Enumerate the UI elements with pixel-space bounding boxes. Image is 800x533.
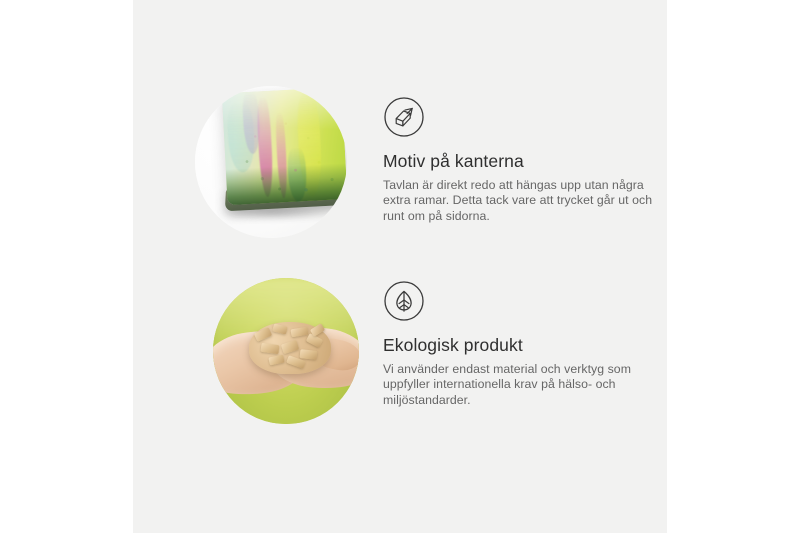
canvas-print-photo <box>195 86 347 238</box>
feature-title: Ekologisk produkt <box>383 335 663 356</box>
wood-chip <box>290 327 308 338</box>
feature-text-block-2: Ekologisk produkt Vi använder endast mat… <box>383 280 663 408</box>
wood-chip <box>260 343 279 354</box>
feature-description: Vi använder endast material och verktyg … <box>383 362 663 408</box>
artwork-speckle-texture <box>222 87 347 205</box>
feature-text-block-1: Motiv på kanterna Tavlan är direkt redo … <box>383 96 653 224</box>
wood-chip <box>281 340 299 354</box>
wood-chip-pile <box>249 322 331 374</box>
canvas-front-artwork <box>222 87 347 205</box>
feature-description: Tavlan är direkt redo att hängas upp uta… <box>383 178 653 224</box>
hands-with-wood-chips-photo <box>213 278 359 424</box>
wood-chip <box>272 323 288 334</box>
feature-ekologisk-produkt: Ekologisk produkt Vi använder endast mat… <box>133 268 667 433</box>
feature-motiv-pa-kanterna: Motiv på kanterna Tavlan är direkt redo … <box>133 78 667 258</box>
product-info-graphic: Motiv på kanterna Tavlan är direkt redo … <box>0 0 800 533</box>
wood-chip <box>300 349 318 360</box>
eco-photo-background <box>213 278 359 424</box>
canvas-photo-background <box>195 86 347 238</box>
wood-chip <box>268 355 284 366</box>
leaf-icon <box>383 280 425 322</box>
canvas-print-object <box>222 87 347 219</box>
content-panel: Motiv på kanterna Tavlan är direkt redo … <box>133 0 667 533</box>
canvas-wrapped-edge-icon <box>383 96 425 138</box>
feature-title: Motiv på kanterna <box>383 151 653 172</box>
